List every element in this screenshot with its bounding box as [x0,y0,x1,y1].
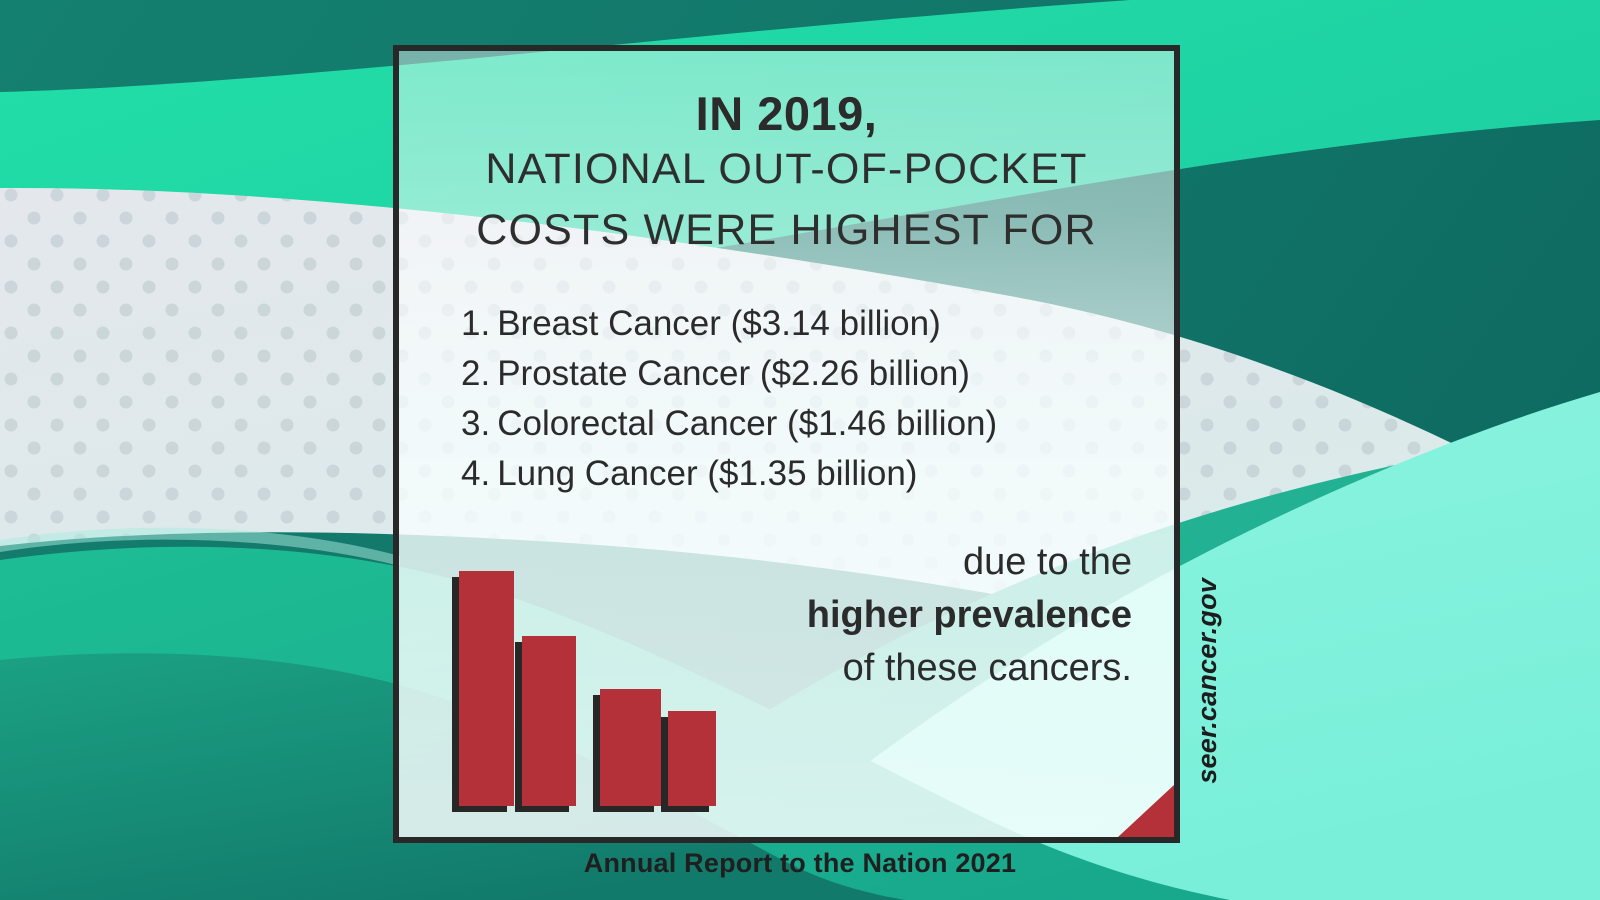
infographic-canvas: IN 2019, NATIONAL OUT-OF-POCKET COSTS WE… [0,0,1600,900]
list-item-number: 4. [461,454,490,493]
chart-bar [522,636,576,806]
headline-block: IN 2019, NATIONAL OUT-OF-POCKET COSTS WE… [399,89,1174,261]
list-item: 1.Breast Cancer ($3.14 billion) [461,299,997,349]
chart-bar [459,571,514,806]
content-card: IN 2019, NATIONAL OUT-OF-POCKET COSTS WE… [393,45,1180,843]
cost-bar-chart [451,556,781,806]
list-item-label: Prostate Cancer ($2.26 billion) [497,354,970,393]
site-url-label[interactable]: seer.cancer.gov [1192,578,1223,784]
list-item: 2.Prostate Cancer ($2.26 billion) [461,349,997,399]
list-item-number: 3. [461,404,490,443]
list-item-label: Lung Cancer ($1.35 billion) [497,454,917,493]
headline-subline-1: NATIONAL OUT-OF-POCKET [399,139,1174,200]
report-footer-label: Annual Report to the Nation 2021 [0,848,1600,879]
card-content: IN 2019, NATIONAL OUT-OF-POCKET COSTS WE… [399,51,1174,837]
list-item: 3.Colorectal Cancer ($1.46 billion) [461,399,997,449]
headline-subline-2: COSTS WERE HIGHEST FOR [399,200,1174,261]
list-item-number: 2. [461,354,490,393]
ranked-cancer-list: 1.Breast Cancer ($3.14 billion) 2.Prosta… [461,299,997,499]
chart-bar [600,689,661,806]
list-item: 4.Lung Cancer ($1.35 billion) [461,449,997,499]
headline-year: IN 2019, [399,89,1174,139]
list-item-label: Breast Cancer ($3.14 billion) [497,304,941,343]
list-item-label: Colorectal Cancer ($1.46 billion) [497,404,997,443]
chart-bar [668,711,716,806]
corner-accent-triangle [1118,785,1174,837]
list-item-number: 1. [461,304,490,343]
